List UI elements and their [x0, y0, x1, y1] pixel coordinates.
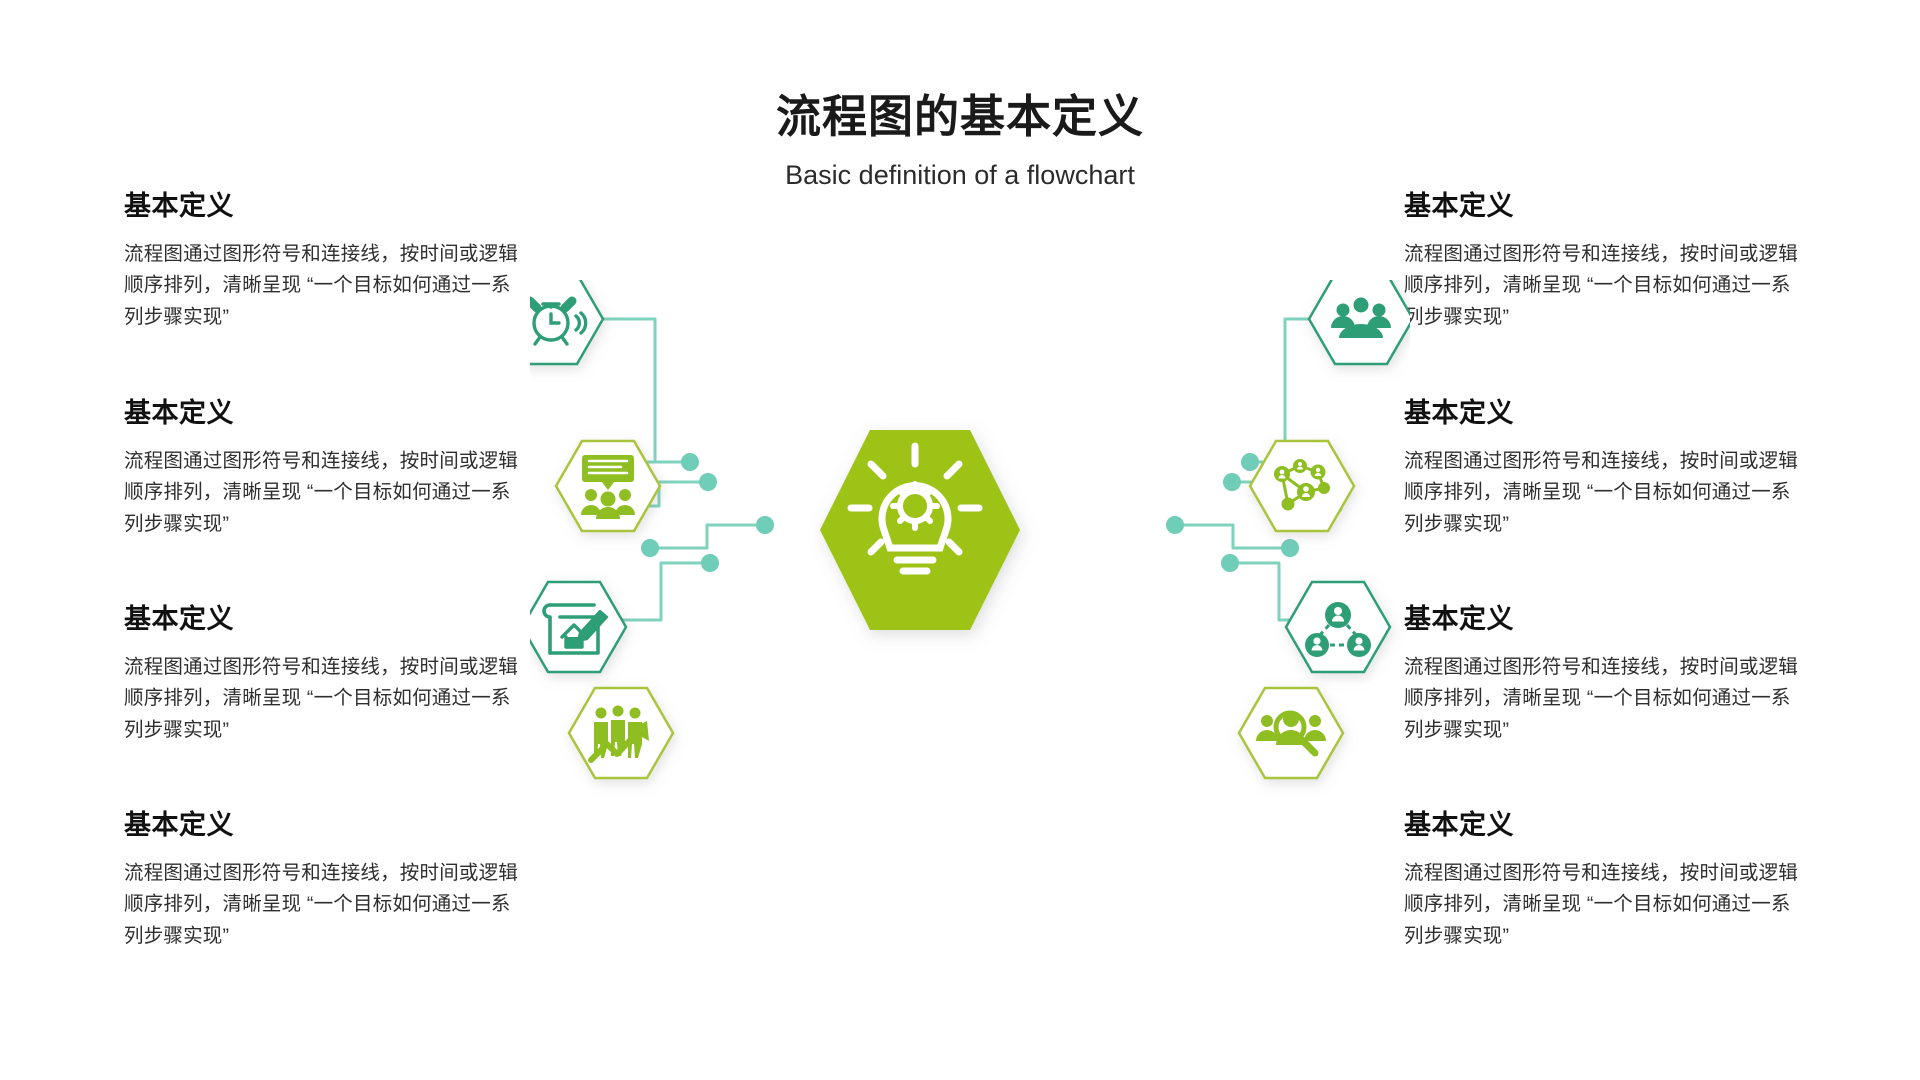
text-block-heading: 基本定义	[124, 605, 519, 635]
text-block-left-4: 基本定义 流程图通过图形符号和连接线，按时间或逻辑顺序排列，清晰呈现 “一个目标…	[124, 811, 519, 952]
text-block-body: 流程图通过图形符号和连接线，按时间或逻辑顺序排列，清晰呈现 “一个目标如何通过一…	[124, 652, 519, 747]
connector-dot	[699, 473, 717, 491]
connector-dot	[1223, 473, 1241, 491]
connector-left-5	[650, 525, 765, 548]
text-block-heading: 基本定义	[1404, 399, 1799, 429]
connector-dot	[1221, 554, 1239, 572]
text-block-left-2: 基本定义 流程图通过图形符号和连接线，按时间或逻辑顺序排列，清晰呈现 “一个目标…	[124, 399, 519, 540]
text-block-body: 流程图通过图形符号和连接线，按时间或逻辑顺序排列，清晰呈现 “一个目标如何通过一…	[1404, 239, 1799, 334]
node-left-1[interactable]	[530, 280, 603, 364]
text-block-body: 流程图通过图形符号和连接线，按时间或逻辑顺序排列，清晰呈现 “一个目标如何通过一…	[1404, 858, 1799, 953]
text-block-right-2: 基本定义 流程图通过图形符号和连接线，按时间或逻辑顺序排列，清晰呈现 “一个目标…	[1404, 399, 1799, 540]
text-block-body: 流程图通过图形符号和连接线，按时间或逻辑顺序排列，清晰呈现 “一个目标如何通过一…	[1404, 446, 1799, 541]
text-block-body: 流程图通过图形符号和连接线，按时间或逻辑顺序排列，清晰呈现 “一个目标如何通过一…	[124, 239, 519, 334]
text-block-right-4: 基本定义 流程图通过图形符号和连接线，按时间或逻辑顺序排列，清晰呈现 “一个目标…	[1404, 811, 1799, 952]
text-block-body: 流程图通过图形符号和连接线，按时间或逻辑顺序排列，清晰呈现 “一个目标如何通过一…	[124, 858, 519, 953]
node-left-4[interactable]	[569, 688, 673, 778]
text-block-left-3: 基本定义 流程图通过图形符号和连接线，按时间或逻辑顺序排列，清晰呈现 “一个目标…	[124, 605, 519, 746]
text-block-heading: 基本定义	[124, 399, 519, 429]
connector-dot	[1281, 539, 1299, 557]
node-left-3[interactable]	[530, 582, 626, 672]
node-left-2[interactable]	[556, 441, 660, 531]
text-block-heading: 基本定义	[1404, 192, 1799, 222]
text-block-body: 流程图通过图形符号和连接线，按时间或逻辑顺序排列，清晰呈现 “一个目标如何通过一…	[1404, 652, 1799, 747]
slide-header: 流程图的基本定义 Basic definition of a flowchart	[0, 0, 1920, 190]
text-block-body: 流程图通过图形符号和连接线，按时间或逻辑顺序排列，清晰呈现 “一个目标如何通过一…	[124, 446, 519, 541]
connector-dot	[701, 554, 719, 572]
flowchart-diagram	[530, 280, 1410, 900]
connector-right-5	[1175, 525, 1290, 548]
center-hexagon	[820, 430, 1020, 630]
node-right-3[interactable]	[1286, 582, 1390, 672]
text-block-heading: 基本定义	[124, 811, 519, 841]
text-block-heading: 基本定义	[1404, 811, 1799, 841]
text-block-right-3: 基本定义 流程图通过图形符号和连接线，按时间或逻辑顺序排列，清晰呈现 “一个目标…	[1404, 605, 1799, 746]
text-block-heading: 基本定义	[1404, 605, 1799, 635]
connector-dot	[1166, 516, 1184, 534]
connector-dot	[641, 539, 659, 557]
connector-dot	[756, 516, 774, 534]
text-block-heading: 基本定义	[124, 192, 519, 222]
page-subtitle: Basic definition of a flowchart	[0, 142, 1920, 191]
center-node[interactable]	[820, 430, 1020, 630]
text-block-left-1: 基本定义 流程图通过图形符号和连接线，按时间或逻辑顺序排列，清晰呈现 “一个目标…	[124, 192, 519, 333]
hexagon-outline	[1309, 280, 1410, 364]
connector-dot	[681, 453, 699, 471]
slide-canvas: 流程图的基本定义 Basic definition of a flowchart…	[0, 0, 1920, 1080]
text-block-right-1: 基本定义 流程图通过图形符号和连接线，按时间或逻辑顺序排列，清晰呈现 “一个目标…	[1404, 192, 1799, 333]
node-right-1[interactable]	[1309, 280, 1410, 364]
connector-dot	[1241, 453, 1259, 471]
node-right-2[interactable]	[1250, 441, 1354, 531]
page-title: 流程图的基本定义	[0, 0, 1920, 142]
node-right-4[interactable]	[1239, 688, 1343, 778]
